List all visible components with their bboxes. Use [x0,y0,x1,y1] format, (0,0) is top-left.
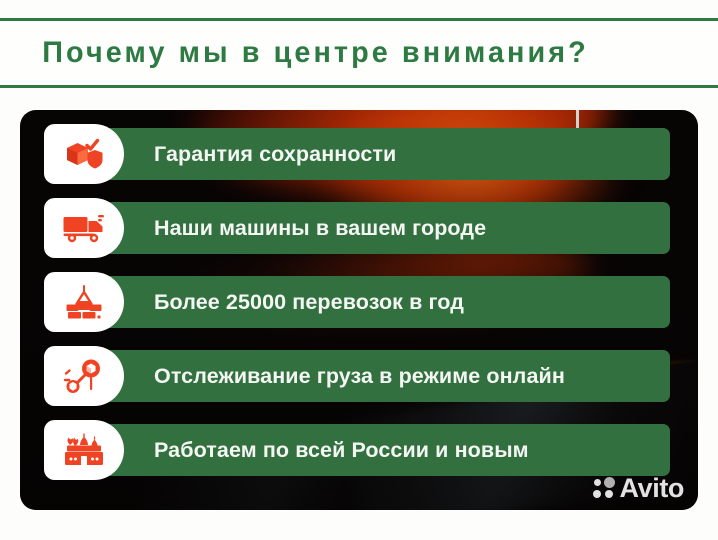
feature-label: Наши машины в вашем городе [154,216,486,241]
feature-label: Работаем по всей России и новым [154,438,529,463]
avito-watermark: Avito [593,475,685,502]
page-header: Почему мы в центре внимания? [0,18,718,88]
feature-bar: Работаем по всей России и новым [66,424,670,476]
page-title: Почему мы в центре внимания? [0,36,589,70]
package-shield-icon [44,124,124,184]
feature-label: Отслеживание груза в режиме онлайн [154,364,565,389]
list-item: Более 25000 перевозок в год [20,276,698,328]
feature-bar: Гарантия сохранности [66,128,670,180]
list-item: Отслеживание груза в режиме онлайн [20,350,698,402]
avito-logo-icon [593,478,615,500]
feature-list: Гарантия сохранности Наши машины в вашем… [20,110,698,510]
feature-bar: Отслеживание груза в режиме онлайн [66,350,670,402]
list-item: Гарантия сохранности [20,128,698,180]
list-item: Работаем по всей России и новым [20,424,698,476]
feature-label: Гарантия сохранности [154,142,396,167]
delivery-truck-icon [44,198,124,258]
feature-label: Более 25000 перевозок в год [154,290,464,315]
feature-panel: Гарантия сохранности Наши машины в вашем… [20,110,698,510]
crane-boxes-icon [44,272,124,332]
avito-wordmark: Avito [620,475,685,502]
kremlin-icon [44,420,124,480]
list-item: Наши машины в вашем городе [20,202,698,254]
cargo-tracking-icon [44,346,124,406]
feature-bar: Наши машины в вашем городе [66,202,670,254]
feature-bar: Более 25000 перевозок в год [66,276,670,328]
